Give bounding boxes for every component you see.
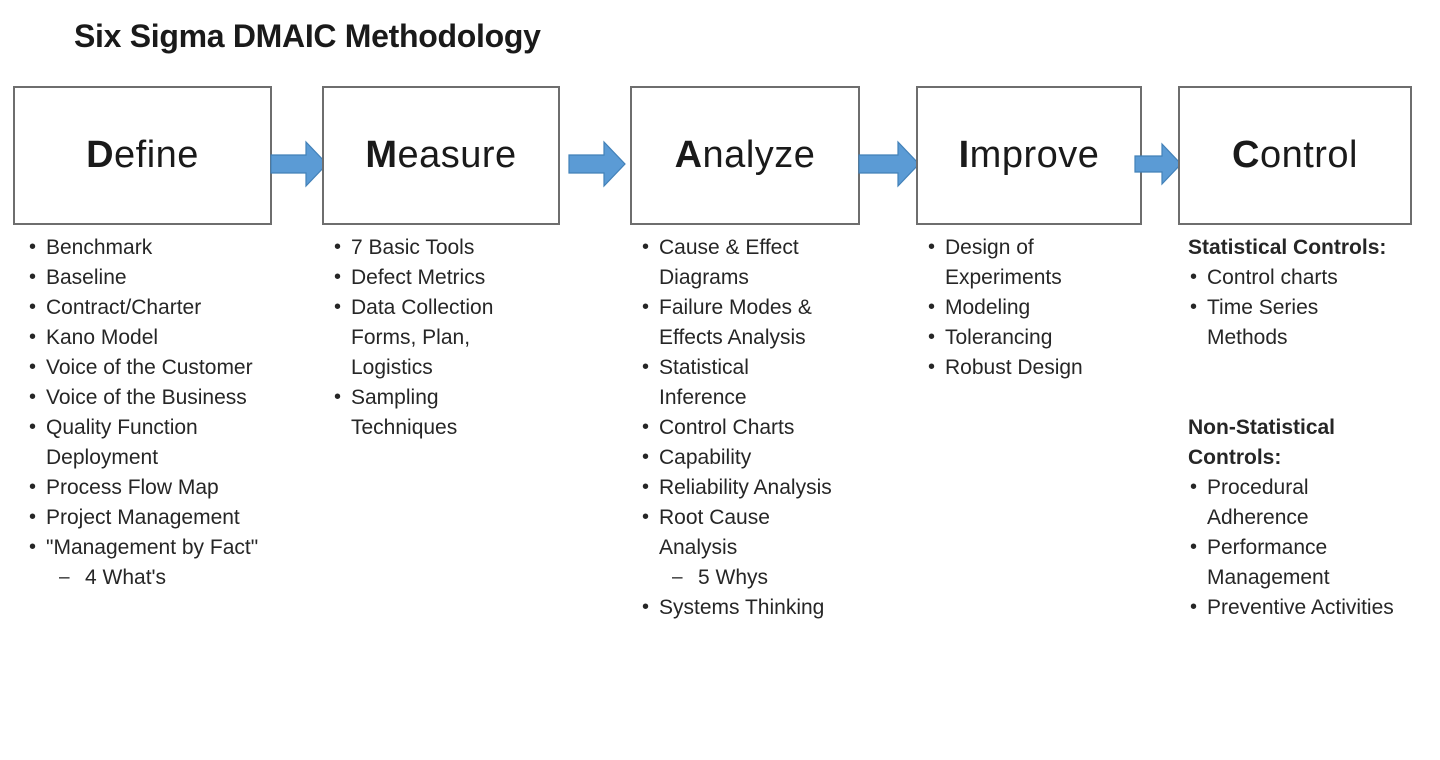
list-item: Sampling Techniques <box>332 383 517 443</box>
diagram-canvas: Six Sigma DMAIC Methodology Define Bench… <box>0 0 1440 760</box>
list-item: Data Collection Forms, Plan, Logistics <box>332 293 517 383</box>
list-item: "Management by Fact" <box>27 533 272 563</box>
phase-box-define[interactable]: Define <box>13 86 272 225</box>
list-item: Design of Experiments <box>926 233 1131 293</box>
phase-items-control: Statistical Controls: Control charts Tim… <box>1188 233 1398 623</box>
list-item: Systems Thinking <box>640 593 840 623</box>
phase-box-control[interactable]: Control <box>1178 86 1412 225</box>
phase-name-rest: easure <box>397 134 516 176</box>
list-item: Control charts <box>1188 263 1398 293</box>
phase-box-analyze[interactable]: Analyze <box>630 86 860 225</box>
list-item: 7 Basic Tools <box>332 233 517 263</box>
phase-title-analyze: Analyze <box>675 134 816 177</box>
phase-items-analyze: Cause & Effect Diagrams Failure Modes & … <box>640 233 840 623</box>
phase-title-define: Define <box>86 134 199 177</box>
page-title: Six Sigma DMAIC Methodology <box>74 18 541 55</box>
phase-initial: D <box>86 134 114 176</box>
arrow-right-icon-1 <box>270 140 328 188</box>
phase-items-define: Benchmark Baseline Contract/Charter Kano… <box>27 233 272 593</box>
arrow-right-icon-3 <box>858 140 920 188</box>
phase-items-measure: 7 Basic Tools Defect Metrics Data Collec… <box>332 233 517 443</box>
arrow-right-icon-2 <box>568 140 626 188</box>
list-item: Kano Model <box>27 323 272 353</box>
list-item: Cause & Effect Diagrams <box>640 233 840 293</box>
list-item: Quality Function Deployment <box>27 413 272 473</box>
list-item: Time Series Methods <box>1188 293 1398 353</box>
list-item: Procedural Adherence <box>1188 473 1398 533</box>
phase-name-rest: mprove <box>970 134 1100 176</box>
phase-title-measure: Measure <box>365 134 516 177</box>
list-spacer <box>1188 383 1398 413</box>
list-item: Benchmark <box>27 233 272 263</box>
phase-initial: A <box>675 134 703 176</box>
list-item: Tolerancing <box>926 323 1131 353</box>
list-item: Baseline <box>27 263 272 293</box>
list-item: Reliability Analysis <box>640 473 840 503</box>
list-item: Robust Design <box>926 353 1131 383</box>
list-item-sub: 5 Whys <box>640 563 840 593</box>
phase-name-rest: ontrol <box>1260 134 1358 176</box>
phase-name-rest: nalyze <box>703 134 816 176</box>
list-item: Voice of the Business <box>27 383 272 413</box>
phase-name-rest: efine <box>114 134 199 176</box>
list-item: Performance Management <box>1188 533 1398 593</box>
phase-items-improve: Design of Experiments Modeling Toleranci… <box>926 233 1131 383</box>
phase-initial: M <box>365 134 397 176</box>
list-item: Voice of the Customer <box>27 353 272 383</box>
list-item: Capability <box>640 443 840 473</box>
phase-initial: C <box>1232 134 1260 176</box>
list-item: Defect Metrics <box>332 263 517 293</box>
list-group-heading: Non-Statistical Controls: <box>1188 413 1398 473</box>
list-item: Contract/Charter <box>27 293 272 323</box>
phase-box-improve[interactable]: Improve <box>916 86 1142 225</box>
list-item-sub: 4 What's <box>27 563 272 593</box>
list-item: Failure Modes & Effects Analysis <box>640 293 840 353</box>
list-item: Preventive Activities <box>1188 593 1398 623</box>
list-item: Control Charts <box>640 413 840 443</box>
phase-title-improve: Improve <box>959 134 1100 177</box>
list-item: Project Management <box>27 503 272 533</box>
list-item: Modeling <box>926 293 1131 323</box>
phase-initial: I <box>959 134 970 176</box>
list-item: Root Cause Analysis <box>640 503 840 563</box>
list-item: Statistical Inference <box>640 353 840 413</box>
phase-title-control: Control <box>1232 134 1358 177</box>
phase-box-measure[interactable]: Measure <box>322 86 560 225</box>
list-spacer <box>1188 353 1398 383</box>
arrow-right-icon-4 <box>1134 142 1182 186</box>
list-group-heading: Statistical Controls: <box>1188 233 1398 263</box>
list-item: Process Flow Map <box>27 473 272 503</box>
